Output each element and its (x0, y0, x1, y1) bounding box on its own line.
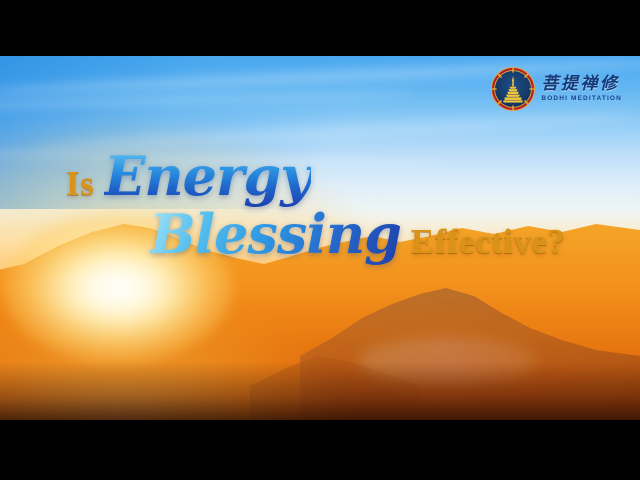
letterbox-bar-bottom (0, 420, 640, 480)
logo-english-name: BODHI MEDITATION (541, 96, 622, 103)
video-frame: Is Energy Blessing Effective? (0, 0, 640, 480)
brand-logo[interactable]: 菩提禅修 BODHI MEDITATION (492, 68, 622, 110)
logo-wordmark: 菩提禅修 BODHI MEDITATION (541, 76, 622, 103)
bodhi-stupa-emblem-icon (492, 68, 534, 110)
stupa-glyph (500, 76, 526, 104)
sun-disc (3, 213, 233, 363)
logo-chinese-name: 菩提禅修 (541, 76, 622, 93)
letterbox-bar-top (0, 0, 640, 56)
background-photo (0, 56, 640, 420)
